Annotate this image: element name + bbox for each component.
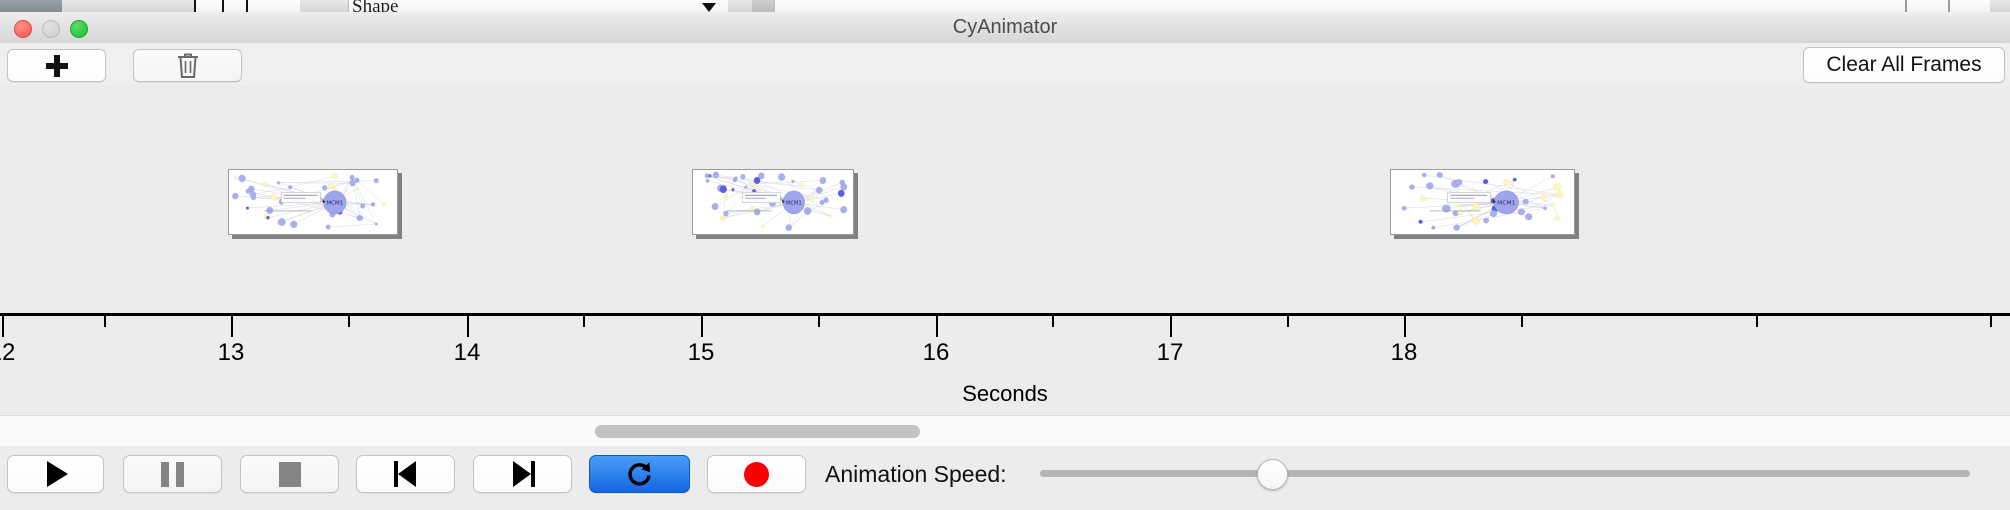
axis-tick-label: 15 bbox=[688, 339, 715, 367]
animation-speed-slider-thumb[interactable] bbox=[1257, 459, 1288, 490]
clear-all-frames-label: Clear All Frames bbox=[1826, 53, 1981, 77]
play-icon bbox=[47, 461, 68, 487]
axis-tick-major bbox=[936, 316, 938, 337]
cyanimator-window: Shape CyAnimator Clear A bbox=[0, 0, 2010, 510]
timeline-scrollbar-thumb[interactable] bbox=[595, 425, 920, 438]
frame-thumbnail-18[interactable]: MCM1 bbox=[1390, 169, 1575, 235]
record-button[interactable] bbox=[707, 455, 806, 493]
bg-chip bbox=[728, 0, 753, 12]
axis-tick-major bbox=[1404, 316, 1406, 337]
add-frame-button[interactable] bbox=[7, 49, 106, 82]
frames-toolbar: Clear All Frames bbox=[0, 43, 2010, 86]
axis-tick-label: 14 bbox=[454, 339, 481, 367]
plus-icon bbox=[46, 55, 68, 77]
bg-chip bbox=[142, 0, 195, 12]
timeline-panel[interactable]: MCM1 MCM1 MCM1 12131415161718 Seconds bbox=[0, 85, 2010, 415]
pause-icon bbox=[161, 462, 184, 487]
bg-tick bbox=[1905, 0, 1907, 12]
axis-tick-major bbox=[467, 316, 469, 337]
axis-tick-minor bbox=[1052, 316, 1054, 327]
bg-tick bbox=[1948, 0, 1950, 12]
axis-tick-major bbox=[1170, 316, 1172, 337]
play-button[interactable] bbox=[7, 455, 104, 493]
skip-back-button[interactable] bbox=[356, 455, 455, 493]
bg-chip bbox=[300, 0, 349, 12]
axis-tick-major bbox=[2, 316, 4, 337]
bg-chip bbox=[62, 0, 143, 12]
bg-chip bbox=[1990, 0, 2010, 12]
axis-tick-label: 13 bbox=[218, 339, 245, 367]
axis-tick-minor bbox=[1990, 316, 1992, 327]
axis-tick-label: 17 bbox=[1157, 339, 1184, 367]
frame-thumbnail-13[interactable]: MCM1 bbox=[228, 169, 398, 235]
axis-tick-minor bbox=[104, 316, 106, 327]
bg-chip bbox=[0, 0, 63, 12]
axis-tick-major bbox=[701, 316, 703, 337]
timeline-axis bbox=[0, 313, 2010, 316]
axis-tick-minor bbox=[348, 316, 350, 327]
clear-all-frames-button[interactable]: Clear All Frames bbox=[1803, 47, 2005, 83]
bg-tick bbox=[222, 0, 224, 12]
stop-button[interactable] bbox=[240, 455, 339, 493]
record-icon bbox=[744, 462, 769, 487]
axis-tick-label: 12 bbox=[0, 339, 15, 367]
frame-thumbnail-15[interactable]: MCM1 bbox=[692, 169, 854, 235]
loop-button[interactable] bbox=[589, 455, 690, 493]
svg-text:MCM1: MCM1 bbox=[326, 201, 343, 207]
axis-tick-major bbox=[231, 316, 233, 337]
bg-arrow-icon bbox=[702, 3, 716, 12]
timeline-scrollbar[interactable] bbox=[0, 415, 2010, 447]
bg-tick bbox=[246, 0, 248, 12]
axis-tick-label: 18 bbox=[1391, 339, 1418, 367]
playback-controls: Animation Speed: bbox=[0, 446, 2010, 510]
axis-tick-minor bbox=[1521, 316, 1523, 327]
stop-icon bbox=[279, 462, 301, 487]
animation-speed-label: Animation Speed: bbox=[825, 455, 1007, 493]
axis-tick-minor bbox=[1287, 316, 1289, 327]
loop-icon bbox=[625, 459, 655, 489]
trash-icon bbox=[176, 52, 200, 79]
window-title: CyAnimator bbox=[0, 12, 2010, 43]
skip-back-icon bbox=[394, 461, 418, 487]
bg-tick bbox=[194, 0, 196, 12]
axis-tick-minor bbox=[583, 316, 585, 327]
delete-frame-button[interactable] bbox=[133, 49, 242, 82]
bg-chip bbox=[752, 0, 775, 12]
skip-forward-button[interactable] bbox=[473, 455, 572, 493]
axis-tick-label: 16 bbox=[923, 339, 950, 367]
pause-button[interactable] bbox=[123, 455, 222, 493]
axis-title: Seconds bbox=[0, 381, 2010, 407]
skip-forward-icon bbox=[511, 461, 535, 487]
axis-tick-minor bbox=[818, 316, 820, 327]
svg-text:MCM1: MCM1 bbox=[1497, 201, 1516, 207]
title-bar[interactable]: CyAnimator bbox=[0, 12, 2010, 44]
animation-speed-slider-track[interactable] bbox=[1040, 470, 1970, 477]
svg-text:MCM1: MCM1 bbox=[786, 200, 802, 206]
axis-tick-minor bbox=[1756, 316, 1758, 327]
